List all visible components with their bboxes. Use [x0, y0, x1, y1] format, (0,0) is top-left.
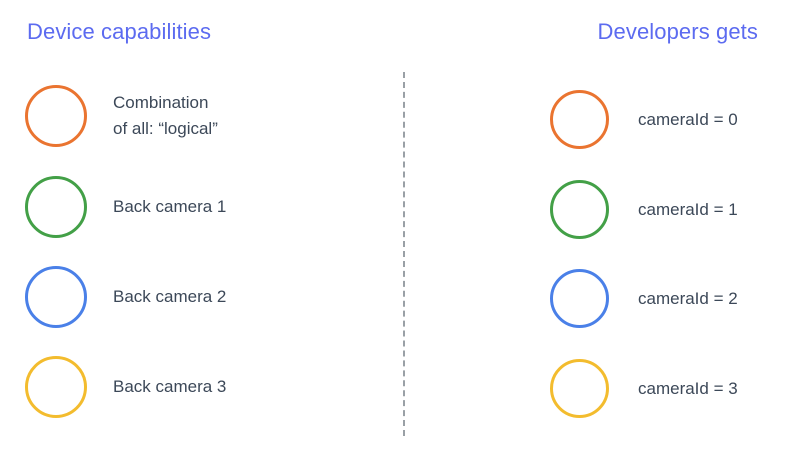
camera-circle-icon [550, 180, 609, 239]
camera-circle-icon [25, 85, 87, 147]
camera-id-row: cameraId = 0 [550, 90, 738, 149]
camera-id-row: cameraId = 2 [550, 269, 738, 328]
camera-id-label: cameraId = 2 [638, 286, 738, 312]
capability-label: Combination of all: “logical” [113, 90, 218, 142]
camera-id-row: cameraId = 1 [550, 180, 738, 239]
vertical-dashed-divider [403, 72, 405, 436]
camera-circle-icon [25, 356, 87, 418]
capability-label: Back camera 2 [113, 284, 226, 310]
camera-circle-icon [550, 269, 609, 328]
right-column-heading: Developers gets [598, 19, 758, 45]
camera-id-label: cameraId = 3 [638, 376, 738, 402]
capability-label: Back camera 3 [113, 374, 226, 400]
diagram-canvas: Device capabilities Developers gets Comb… [0, 0, 800, 467]
camera-circle-icon [550, 90, 609, 149]
capability-row: Back camera 1 [25, 176, 226, 238]
camera-id-row: cameraId = 3 [550, 359, 738, 418]
capability-row: Combination of all: “logical” [25, 85, 218, 147]
camera-id-label: cameraId = 1 [638, 197, 738, 223]
capability-row: Back camera 3 [25, 356, 226, 418]
camera-id-label: cameraId = 0 [638, 107, 738, 133]
capability-row: Back camera 2 [25, 266, 226, 328]
left-column-heading: Device capabilities [27, 19, 211, 45]
camera-circle-icon [25, 266, 87, 328]
capability-label: Back camera 1 [113, 194, 226, 220]
camera-circle-icon [550, 359, 609, 418]
camera-circle-icon [25, 176, 87, 238]
